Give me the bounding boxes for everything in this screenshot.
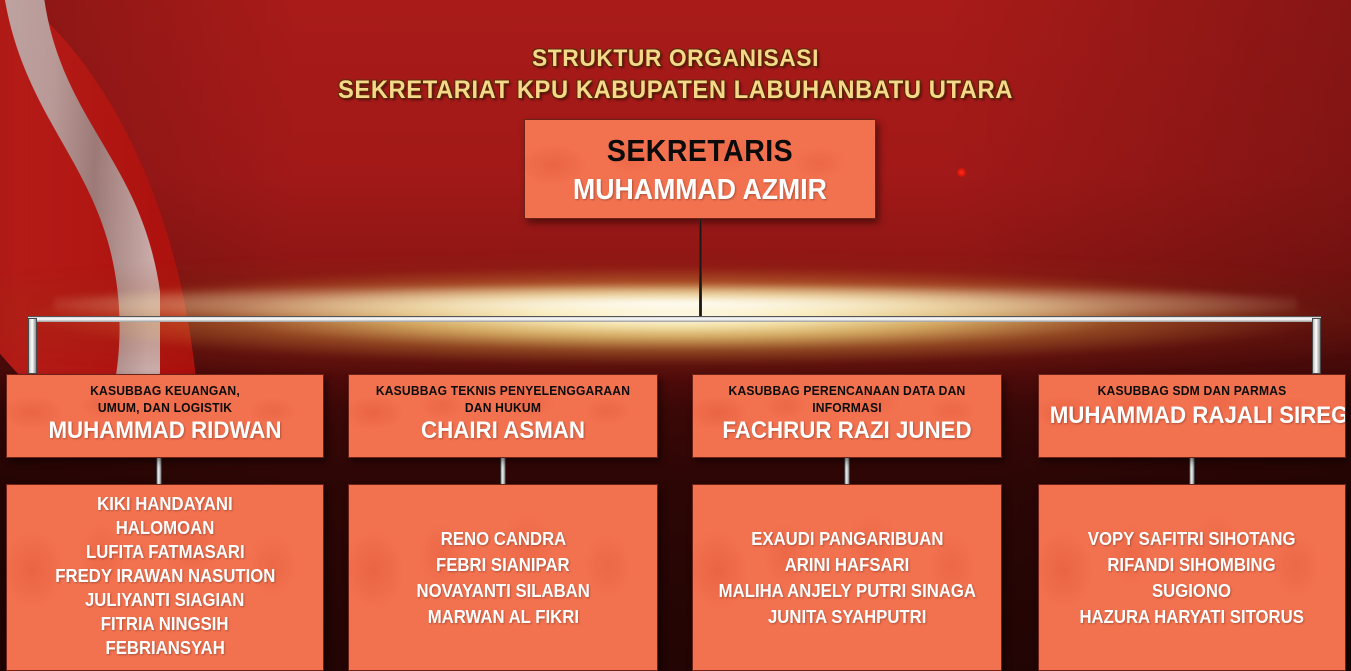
node-department-2[interactable]: KASUBBAG PERENCANAAN DATA DAN INFORMASI …	[692, 374, 1002, 458]
node-department-3[interactable]: KASUBBAG SDM DAN PARMAS MUHAMMAD RAJALI …	[1038, 374, 1346, 458]
connector-bracket-left-arm	[28, 318, 37, 374]
department-2-role-line-2: INFORMASI	[704, 399, 990, 416]
staff-name: LUFITA FATMASARI	[86, 540, 245, 564]
staff-name: FEBRIANSYAH	[105, 636, 224, 660]
connector-horizontal-bracket	[28, 316, 1321, 322]
staff-name: ARINI HAFSARI	[785, 552, 910, 578]
staff-list-2-items: EXAUDI PANGARIBUANARINI HAFSARIMALIHA AN…	[693, 485, 1001, 670]
department-1-role-line-1: KASUBBAG TEKNIS PENYELENGGARAAN	[360, 382, 646, 399]
staff-name: EXAUDI PANGARIBUAN	[751, 526, 943, 552]
staff-name: FREDY IRAWAN NASUTION	[55, 564, 275, 588]
node-department-1[interactable]: KASUBBAG TEKNIS PENYELENGGARAAN DAN HUKU…	[348, 374, 658, 458]
department-3-person: MUHAMMAD RAJALI SIREGAR	[1050, 400, 1335, 432]
staff-list-1-items: RENO CANDRAFEBRI SIANIPARNOVAYANTI SILAB…	[349, 485, 657, 670]
department-1-content: KASUBBAG TEKNIS PENYELENGGARAAN DAN HUKU…	[349, 382, 657, 446]
connector-bracket-right-arm	[1312, 318, 1321, 374]
staff-name: JULIYANTI SIAGIAN	[85, 588, 244, 612]
staff-list-0-items: KIKI HANDAYANIHALOMOANLUFITA FATMASARIFR…	[7, 485, 323, 671]
node-staff-list-3[interactable]: VOPY SAFITRI SIHOTANGRIFANDI SIHOMBINGSU…	[1038, 484, 1346, 671]
sekretaris-person: MUHAMMAD AZMIR DAULAY	[539, 170, 861, 219]
department-0-role-line-1: KASUBBAG KEUANGAN,	[18, 382, 312, 399]
staff-name: NOVAYANTI SILABAN	[416, 578, 589, 604]
department-0-content: KASUBBAG KEUANGAN, UMUM, DAN LOGISTIK MU…	[7, 382, 323, 446]
department-1-role-line-2: DAN HUKUM	[360, 399, 646, 416]
staff-name: KIKI HANDAYANI	[97, 492, 233, 516]
node-staff-list-1[interactable]: RENO CANDRAFEBRI SIANIPARNOVAYANTI SILAB…	[348, 484, 658, 671]
staff-name: HALOMOAN	[116, 516, 215, 540]
staff-name: MALIHA ANJELY PUTRI SINAGA	[718, 578, 975, 604]
node-staff-list-0[interactable]: KIKI HANDAYANIHALOMOANLUFITA FATMASARIFR…	[6, 484, 324, 671]
staff-name: JUNITA SYAHPUTRI	[768, 604, 926, 630]
staff-name: HAZURA HARYATI SITORUS	[1080, 604, 1304, 630]
department-2-role-line-1: KASUBBAG PERENCANAAN DATA DAN	[704, 382, 990, 399]
node-sekretaris[interactable]: SEKRETARIS MUHAMMAD AZMIR DAULAY	[524, 119, 876, 219]
sekretaris-role: SEKRETARIS	[539, 132, 861, 170]
staff-name: RIFANDI SIHOMBING	[1108, 552, 1276, 578]
node-sekretaris-content: SEKRETARIS MUHAMMAD AZMIR DAULAY	[525, 132, 875, 219]
staff-list-3-items: VOPY SAFITRI SIHOTANGRIFANDI SIHOMBINGSU…	[1039, 485, 1345, 670]
department-1-person: CHAIRI ASMAN	[360, 416, 646, 446]
staff-name: FITRIA NINGSIH	[101, 612, 229, 636]
node-staff-list-2[interactable]: EXAUDI PANGARIBUANARINI HAFSARIMALIHA AN…	[692, 484, 1002, 671]
node-department-0[interactable]: KASUBBAG KEUANGAN, UMUM, DAN LOGISTIK MU…	[6, 374, 324, 458]
staff-name: RENO CANDRA	[440, 526, 566, 552]
staff-name: FEBRI SIANIPAR	[436, 552, 570, 578]
staff-name: SUGIONO	[1152, 578, 1231, 604]
staff-name: VOPY SAFITRI SIHOTANG	[1088, 526, 1296, 552]
org-chart-canvas: STRUKTUR ORGANISASI SEKRETARIAT KPU KABU…	[0, 0, 1351, 671]
department-3-role-line-1: KASUBBAG SDM DAN PARMAS	[1050, 382, 1335, 400]
department-0-person: MUHAMMAD RIDWAN	[18, 416, 312, 446]
department-2-person: FACHRUR RAZI JUNED	[704, 416, 990, 446]
connector-sekretaris-stem	[699, 219, 702, 318]
department-2-content: KASUBBAG PERENCANAAN DATA DAN INFORMASI …	[693, 382, 1001, 446]
department-3-content: KASUBBAG SDM DAN PARMAS MUHAMMAD RAJALI …	[1039, 382, 1345, 432]
artifact-dot	[957, 168, 966, 177]
department-0-role-line-2: UMUM, DAN LOGISTIK	[18, 399, 312, 416]
staff-name: MARWAN AL FIKRI	[427, 604, 578, 630]
